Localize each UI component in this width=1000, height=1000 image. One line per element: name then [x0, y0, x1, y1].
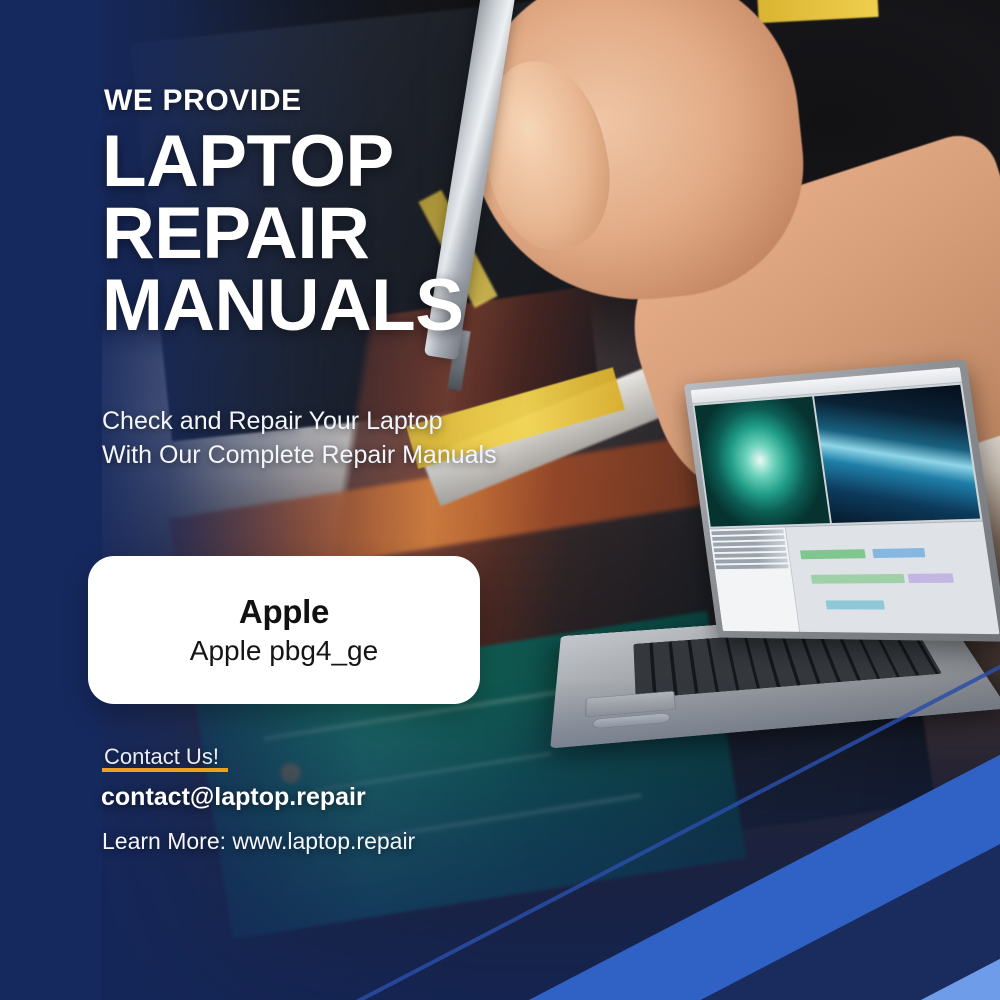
product-model: Apple pbg4_ge [190, 635, 378, 667]
subhead-line-2: With Our Complete Repair Manuals [102, 438, 497, 472]
product-card[interactable]: Apple Apple pbg4_ge [88, 556, 480, 704]
accent-underline [102, 768, 228, 772]
contact-website[interactable]: Learn More: www.laptop.repair [102, 828, 415, 855]
promo-poster: WE PROVIDE LAPTOP REPAIR MANUALS Check a… [0, 0, 1000, 1000]
kicker-text: WE PROVIDE [104, 84, 302, 118]
page-title: LAPTOP REPAIR MANUALS [102, 126, 463, 342]
subhead-line-1: Check and Repair Your Laptop [102, 404, 497, 438]
subheadline: Check and Repair Your Laptop With Our Co… [102, 404, 497, 472]
headline-line-3: MANUALS [102, 270, 463, 342]
contact-label: Contact Us! [104, 744, 219, 770]
poster-content: WE PROVIDE LAPTOP REPAIR MANUALS Check a… [0, 0, 1000, 1000]
product-brand: Apple [239, 593, 329, 631]
headline-line-1: LAPTOP [102, 126, 463, 198]
headline-line-2: REPAIR [102, 198, 463, 270]
contact-email[interactable]: contact@laptop.repair [101, 783, 366, 812]
